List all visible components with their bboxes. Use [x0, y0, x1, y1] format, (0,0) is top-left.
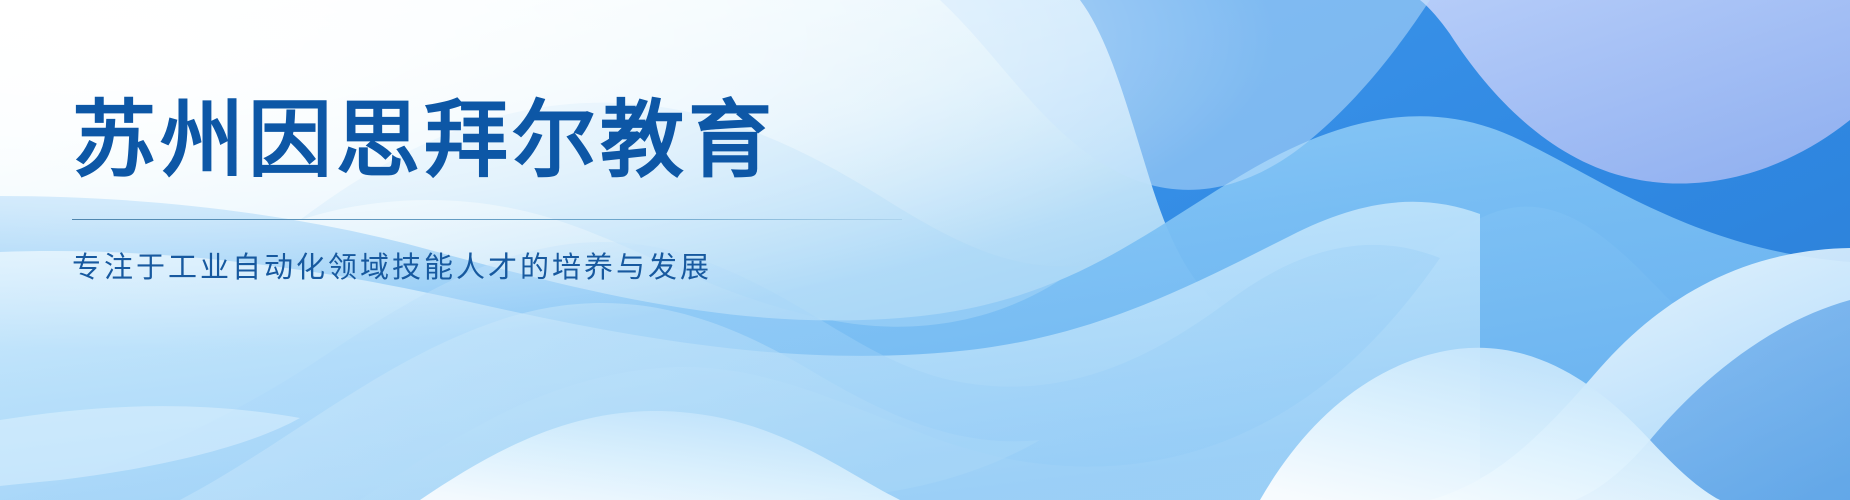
hero-banner: 苏州因思拜尔教育 专注于工业自动化领域技能人才的培养与发展: [0, 0, 1850, 500]
page-subtitle: 专注于工业自动化领域技能人才的培养与发展: [72, 220, 972, 286]
banner-content: 苏州因思拜尔教育 专注于工业自动化领域技能人才的培养与发展: [72, 96, 972, 286]
page-title: 苏州因思拜尔教育: [72, 96, 972, 185]
